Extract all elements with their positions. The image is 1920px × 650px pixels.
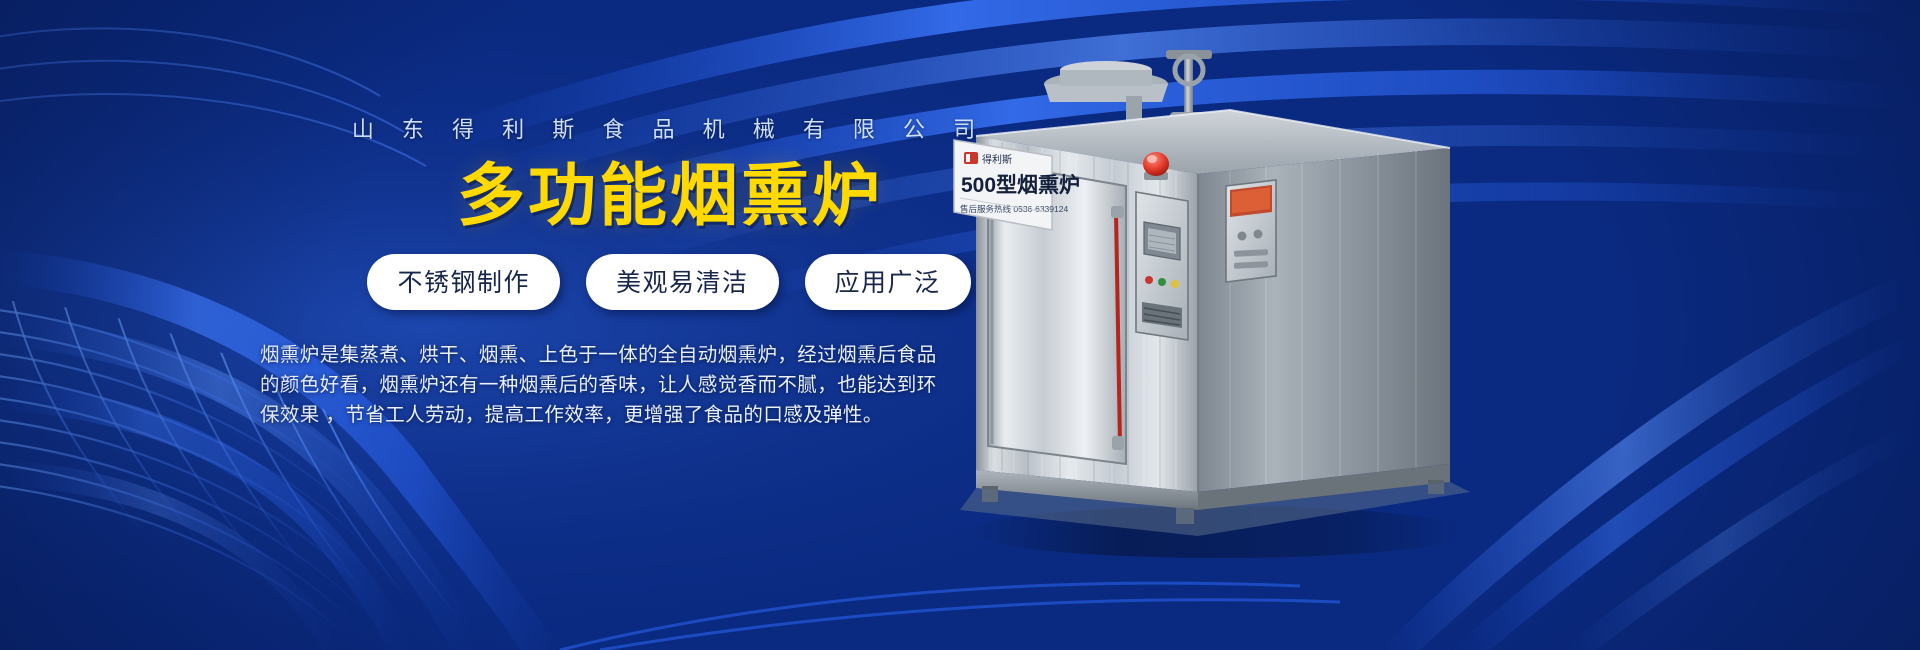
electrical-box [1226, 180, 1276, 282]
feature-pill-easy-clean[interactable]: 美观易清洁 [586, 254, 779, 310]
promo-banner: 山 东 得 利 斯 食 品 机 械 有 限 公 司 多功能烟熏炉 不锈钢制作 美… [0, 0, 1920, 650]
nameplate-brand: 得利斯 [982, 153, 1012, 166]
nameplate-service: 售后服务热线 0536-6339124 [960, 204, 1068, 214]
alarm-beacon-icon [1143, 152, 1169, 180]
feature-pill-stainless[interactable]: 不锈钢制作 [367, 254, 560, 310]
product-photo-smokehouse-oven: 得利斯 500型烟熏炉 售后服务热线 0536-6339124 [930, 40, 1490, 570]
control-panel [1136, 192, 1188, 340]
nameplate-model: 500型烟熏炉 [961, 173, 1080, 197]
